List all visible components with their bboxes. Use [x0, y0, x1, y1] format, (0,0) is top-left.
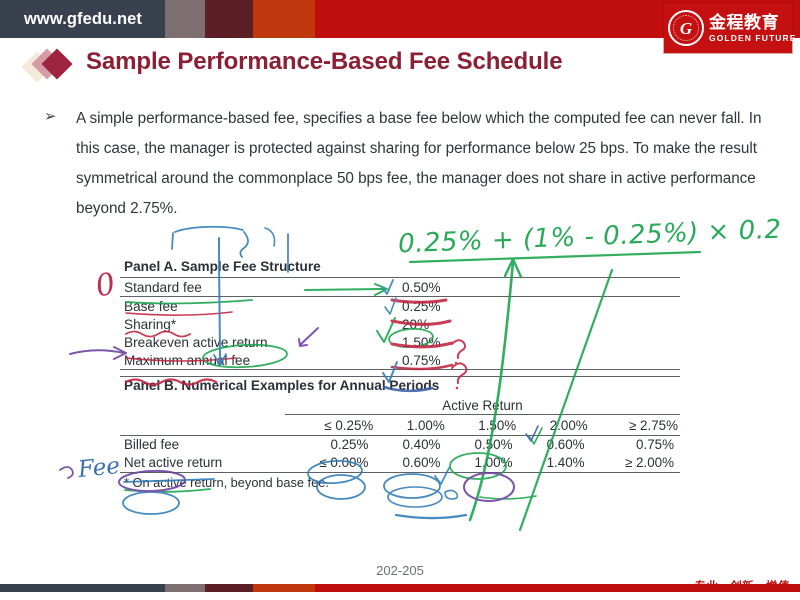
header-segment-maroon: [205, 0, 253, 38]
panel-b-col-header: 2.00%: [518, 417, 589, 435]
panel-b-group-header-row: Active Return: [120, 396, 680, 415]
panel-b-col-header: 1.50%: [447, 417, 518, 435]
panel-b-col-header: ≥ 2.75%: [590, 417, 680, 435]
panel-a-row-value: 0.50%: [400, 278, 680, 296]
panel-a-title: Panel A. Sample Fee Structure: [120, 258, 680, 277]
panel-b-col-header: ≤ 0.25%: [285, 417, 375, 435]
panel-a-row-value: 1.50%: [400, 333, 680, 351]
page-number: 202-205: [0, 563, 800, 578]
diamond-decoration-icon: [26, 50, 86, 82]
page-title: Sample Performance-Based Fee Schedule: [86, 48, 563, 76]
panel-a-row-label: Sharing*: [120, 315, 400, 333]
panel-a-row-label: Base fee: [120, 297, 400, 315]
logo-english-name: GOLDEN FUTURE: [709, 34, 797, 43]
table-row: Sharing* 20%: [120, 315, 680, 333]
panel-b-col-header: 1.00%: [375, 417, 446, 435]
logo-chinese-name: 金程教育: [709, 14, 797, 31]
panel-b-group-header: Active Return: [285, 396, 680, 415]
footer-segment-navy: [0, 584, 165, 592]
panel-b-row-label: Billed fee: [120, 436, 285, 454]
logo-monogram: G: [680, 20, 692, 37]
logo-seal-icon: G: [668, 10, 704, 46]
footer-segment-orange: [253, 584, 315, 592]
panel-a-row-label: Maximum annual fee: [120, 351, 400, 369]
panel-a-row-value: 20%: [400, 315, 680, 333]
header-segment-orange: [253, 0, 315, 38]
footer-segment-mauve: [165, 584, 205, 592]
site-url-label: www.gfedu.net: [24, 10, 142, 29]
panel-b-cell: 0.75%: [591, 436, 680, 454]
panel-a-table-body: Base fee 0.25% Sharing* 20% Breakeven ac…: [120, 297, 680, 369]
footer-color-bar: [0, 584, 800, 592]
panel-b-row-label: Net active return: [120, 454, 285, 472]
title-row: Sample Performance-Based Fee Schedule: [0, 44, 800, 86]
fee-schedule-tables: Panel A. Sample Fee Structure Standard f…: [120, 258, 680, 490]
panel-b-footnote: * On active return, beyond base fee.: [120, 473, 680, 490]
panel-b-cell: 1.40%: [519, 454, 591, 472]
panel-b-table: Active Return ≤ 0.25% 1.00% 1.50% 2.00% …: [120, 396, 680, 435]
panel-b-column-header-row: ≤ 0.25% 1.00% 1.50% 2.00% ≥ 2.75%: [120, 417, 680, 435]
panel-b-cell: 0.60%: [519, 436, 591, 454]
table-row: Breakeven active return 1.50%: [120, 333, 680, 351]
slide-canvas: www.gfedu.net G 金程教育 GOLDEN FUTURE Sampl…: [0, 0, 800, 600]
footer-slogan: 专业 · 创新 · 增值: [695, 578, 790, 594]
panel-b-cell: ≤ 0.00%: [285, 454, 374, 472]
panel-b-cell: 0.50%: [446, 436, 518, 454]
panel-b-cell: 1.00%: [446, 454, 518, 472]
panel-b-cell: ≥ 2.00%: [591, 454, 680, 472]
panel-b-data-table: Billed fee 0.25% 0.40% 0.50% 0.60% 0.75%…: [120, 436, 680, 472]
panel-a-row-value: 0.75%: [400, 351, 680, 369]
panel-a: Panel A. Sample Fee Structure Standard f…: [120, 258, 680, 370]
handwritten-fee-label: Fee: [77, 453, 121, 483]
footer-segment-maroon: [205, 584, 253, 592]
panel-a-row-label: Breakeven active return: [120, 333, 400, 351]
table-row: Net active return ≤ 0.00% 0.60% 1.00% 1.…: [120, 454, 680, 472]
table-row: Base fee 0.25%: [120, 297, 680, 315]
panel-a-table: Standard fee 0.50%: [120, 278, 680, 296]
panel-a-bottom-rule: [120, 369, 680, 370]
handwritten-zero-mark: 0: [93, 266, 119, 304]
logo-wordmark: 金程教育 GOLDEN FUTURE: [704, 14, 797, 43]
panel-b: Panel B. Numerical Examples for Annual P…: [120, 376, 680, 490]
table-row: Maximum annual fee 0.75%: [120, 351, 680, 369]
panel-a-row-value: 0.25%: [400, 297, 680, 315]
body-paragraph: A simple performance-based fee, specifie…: [76, 104, 770, 224]
body-bullet-block: ➢ A simple performance-based fee, specif…: [44, 104, 770, 224]
panel-b-cell: 0.60%: [374, 454, 446, 472]
panel-b-cell: 0.25%: [285, 436, 374, 454]
table-row: Billed fee 0.25% 0.40% 0.50% 0.60% 0.75%: [120, 436, 680, 454]
header-segment-navy: www.gfedu.net: [0, 0, 165, 38]
panel-a-row-label: Standard fee: [120, 278, 400, 296]
panel-b-title: Panel B. Numerical Examples for Annual P…: [120, 377, 680, 396]
panel-b-cell: 0.40%: [374, 436, 446, 454]
header-segment-mauve: [165, 0, 205, 38]
table-row: Standard fee 0.50%: [120, 278, 680, 296]
arrow-bullet-icon: ➢: [44, 109, 57, 124]
